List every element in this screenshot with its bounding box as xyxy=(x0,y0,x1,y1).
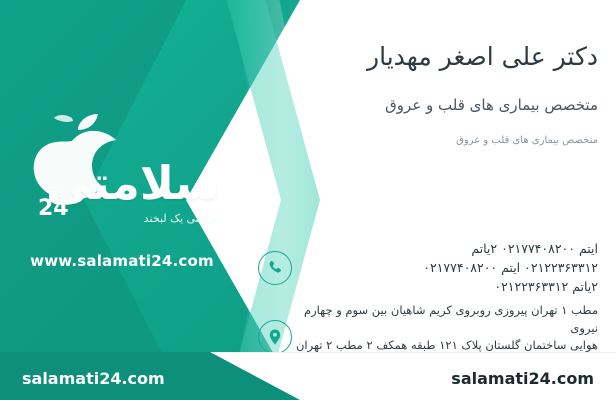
phone-line: ۲یاتم ۰۲۱۲۲۳۶۳۳۱۲ xyxy=(292,278,598,297)
logo-wordmark: سلامتی xyxy=(46,156,220,210)
logo-badge-24: 24 xyxy=(38,196,69,221)
doctor-specialty: متخصص بیماری های قلب و عروق xyxy=(385,96,598,114)
logo-website-url: www.salamati24.com xyxy=(22,252,222,270)
address-line: مطب ۱ تهران پیروزی روبروی کریم شاهیان بی… xyxy=(292,302,598,337)
phone-icon xyxy=(258,251,292,285)
phone-line: ایتم ۰۲۱۷۷۴۰۸۲۰۰ ۲یاتم xyxy=(292,240,598,259)
logo-tagline: براحتی یک لبخند xyxy=(144,212,218,225)
card-footer: salamati24.com salamati24.com xyxy=(0,352,616,400)
doctor-specialty-secondary: متخصص بیماری های قلب و عروق xyxy=(456,135,598,146)
footer-website-left: salamati24.com xyxy=(22,369,165,388)
phone-line: ۰۲۱۲۲۳۶۳۳۱۲ ایتم ۰۲۱۷۷۴۰۸۲۰۰ xyxy=(292,259,598,278)
contact-row-phone: ایتم ۰۲۱۷۷۴۰۸۲۰۰ ۲یاتم ۰۲۱۲۲۳۶۳۳۱۲ ایتم … xyxy=(248,240,598,296)
business-card: سلامتی 24 براحتی یک لبخند www.salamati24… xyxy=(0,0,616,400)
doctor-name: دکتر علی اصغر مهدیار xyxy=(367,42,598,71)
brand-logo: سلامتی 24 براحتی یک لبخند www.salamati24… xyxy=(14,112,224,242)
map-pin-icon xyxy=(258,320,292,354)
phone-numbers: ایتم ۰۲۱۷۷۴۰۸۲۰۰ ۲یاتم ۰۲۱۲۲۳۶۳۳۱۲ ایتم … xyxy=(292,240,598,296)
footer-website-right: salamati24.com xyxy=(451,369,594,388)
